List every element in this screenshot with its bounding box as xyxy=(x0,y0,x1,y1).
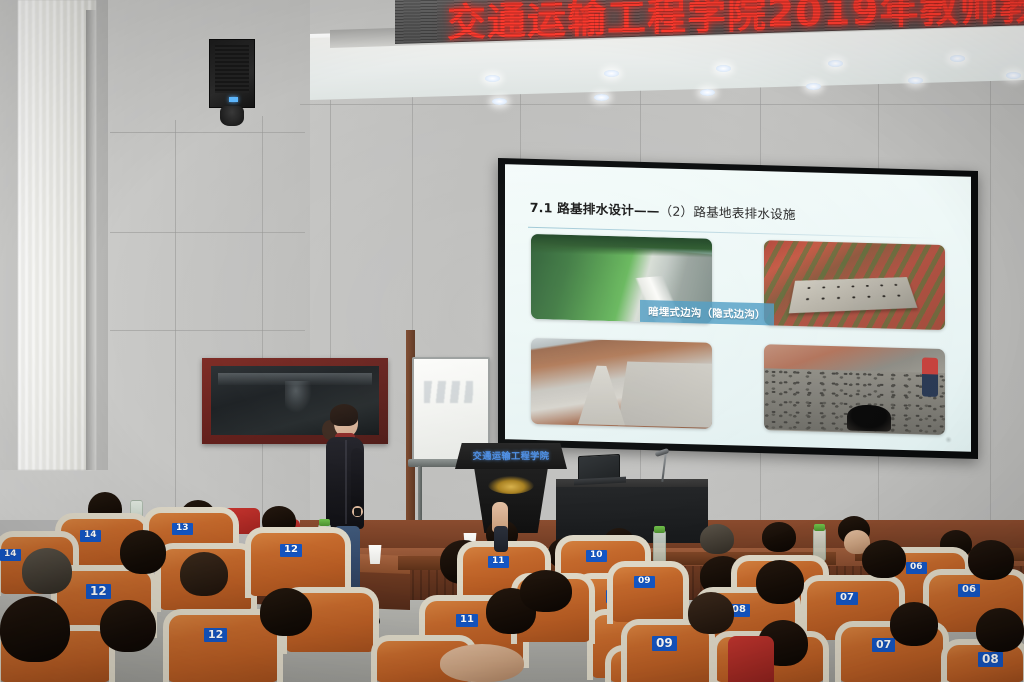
audience-head xyxy=(756,560,804,604)
wall-seam xyxy=(110,330,305,331)
seat-number-label: 09 xyxy=(652,636,677,651)
seat[interactable]: 09 xyxy=(626,624,710,682)
slide-surface: 7.1 路基排水设计——（2）路基地表排水设施 暗埋式边沟（隐式边沟） xyxy=(505,164,971,452)
seat-number-label: 08 xyxy=(978,652,1003,667)
microphone-base xyxy=(659,478,671,483)
photo-roadway xyxy=(618,361,713,428)
wall-speaker-icon xyxy=(209,39,255,108)
audience-head xyxy=(762,522,796,552)
audience-head xyxy=(260,588,312,636)
ceiling-downlight xyxy=(806,83,821,90)
audience-head xyxy=(100,600,156,652)
wall-seam xyxy=(990,76,991,528)
seat-number-label: 14 xyxy=(0,549,21,561)
whiteboard-erased-writing xyxy=(424,381,473,403)
seat-number-label: 11 xyxy=(456,614,478,627)
ceiling-downlight xyxy=(604,70,619,77)
wall-seam xyxy=(110,232,305,233)
audience-red-shirt xyxy=(728,636,774,682)
seat-number-label: 12 xyxy=(86,584,111,599)
presenter-remote-clicker[interactable] xyxy=(354,508,361,516)
seat-number-label: 11 xyxy=(488,556,509,568)
wall-seam xyxy=(262,116,263,520)
slide-photo-perforated-concrete-cover xyxy=(764,240,946,330)
seat-number-label: 10 xyxy=(586,550,607,562)
lectern-gold-emblem-icon xyxy=(488,476,534,494)
ceiling-downlight xyxy=(950,55,965,62)
speaker-led-indicator xyxy=(229,97,238,102)
seat-number-label: 13 xyxy=(172,523,193,535)
bottle-cap xyxy=(654,526,665,533)
audience-head xyxy=(688,592,734,634)
photo-worker xyxy=(922,357,938,397)
ceiling-downlight xyxy=(492,98,507,105)
speaker-grille xyxy=(215,45,249,93)
seat-number-label: 12 xyxy=(204,628,227,642)
slide-title-sub: （2）路基地表排水设施 xyxy=(660,203,796,222)
audience-head xyxy=(890,602,938,646)
water-bottle xyxy=(653,530,666,564)
window-edge xyxy=(86,10,96,470)
seat-number-label: 07 xyxy=(872,638,895,652)
photo-concrete-slab xyxy=(788,277,917,313)
seat-number-label: 14 xyxy=(80,530,101,542)
seat[interactable]: 09 xyxy=(612,566,684,622)
audience-head xyxy=(862,540,906,578)
ceiling-downlight xyxy=(700,89,715,96)
audience-head xyxy=(976,608,1024,652)
photo-slab-holes xyxy=(798,279,907,310)
lectern-sign-text: 交通运输工程学院 xyxy=(455,448,567,462)
ceiling-downlight xyxy=(828,60,843,67)
seat-number-label: 12 xyxy=(280,544,302,557)
presenter-hair xyxy=(330,404,358,426)
slide-callout-label: 暗埋式边沟（隐式边沟） xyxy=(640,300,774,326)
slide-photo-road-drain-strip xyxy=(531,338,713,428)
ceiling-downlight xyxy=(908,77,923,84)
slide-corner-mark xyxy=(945,436,952,443)
photo-drain-strip xyxy=(578,365,625,426)
presenter-arm xyxy=(351,448,363,510)
lecture-hall-scene: 交通运输工程学院2019年教师教学 7.1 路基排水设计——（2）路基地表排水设… xyxy=(0,0,1024,682)
seat-number-label: 06 xyxy=(958,584,980,597)
slide-title-main: 7.1 路基排水设计—— xyxy=(530,199,660,218)
window-curtain xyxy=(18,0,96,470)
display-case-content xyxy=(285,381,312,413)
slide-photo-gravel-drainage-outlet xyxy=(764,344,946,434)
ceiling-downlight xyxy=(485,75,500,82)
audience-head xyxy=(520,570,572,612)
raised-forearm xyxy=(494,526,508,552)
audience-head xyxy=(440,644,524,682)
audience-head xyxy=(968,540,1014,580)
ceiling-downlight xyxy=(594,94,609,101)
audience-head xyxy=(180,552,228,596)
seat-number-label: 07 xyxy=(836,592,858,605)
audience-head xyxy=(120,530,166,574)
photo-drain-outlet xyxy=(847,405,891,432)
ceiling-downlight xyxy=(716,65,731,72)
audience-head xyxy=(22,548,72,594)
ceiling-downlight xyxy=(1006,72,1021,79)
projection-screen: 7.1 路基排水设计——（2）路基地表排水设施 暗埋式边沟（隐式边沟） xyxy=(498,158,978,459)
speaker-mount-bracket xyxy=(220,106,244,126)
audience-head xyxy=(700,524,734,554)
bottle-cap xyxy=(814,524,825,531)
presenter-coat-seam xyxy=(345,440,347,524)
slide-title: 7.1 路基排水设计——（2）路基地表排水设施 xyxy=(530,196,796,222)
seat-rim xyxy=(607,561,689,624)
audience-head xyxy=(0,596,70,662)
wall-seam xyxy=(300,104,1024,105)
wall-seam xyxy=(110,132,305,133)
seat-number-label: 09 xyxy=(634,576,655,588)
seat-number-label: 06 xyxy=(906,562,927,574)
wall-seam xyxy=(175,120,176,520)
bottle-cap xyxy=(319,519,330,526)
